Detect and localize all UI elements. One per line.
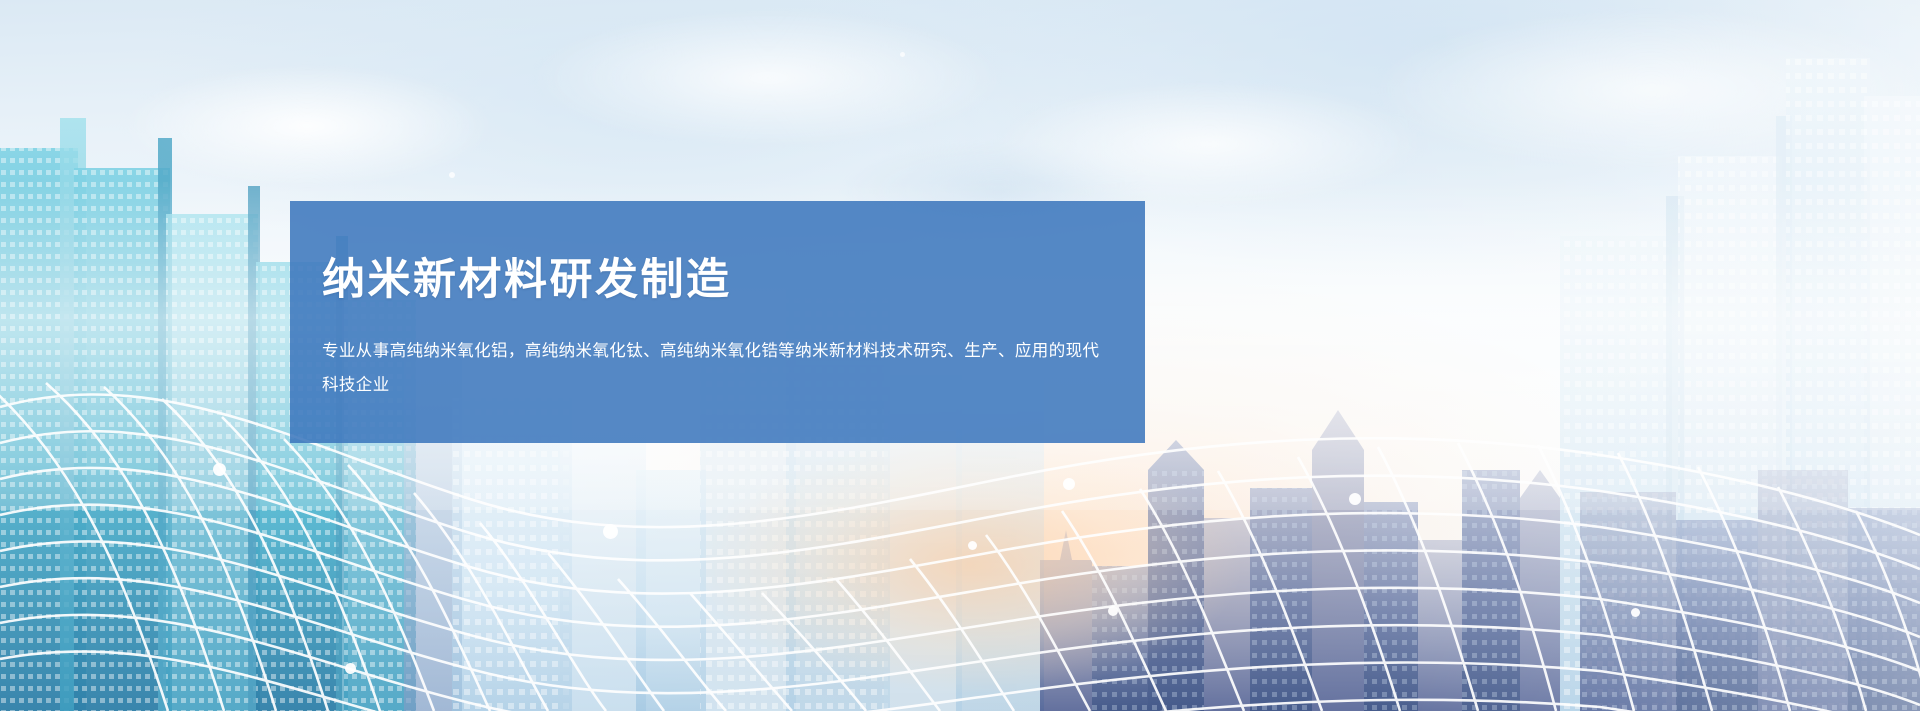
page-subtitle: 专业从事高纯纳米氧化铝，高纯纳米氧化钛、高纯纳米氧化锆等纳米新材料技术研究、生产…	[322, 334, 1112, 402]
particle-dot	[213, 463, 226, 476]
hero-banner: 纳米新材料研发制造 专业从事高纯纳米氧化铝，高纯纳米氧化钛、高纯纳米氧化锆等纳米…	[0, 0, 1920, 711]
particle-dot	[1108, 606, 1118, 616]
particle-dot	[345, 663, 356, 674]
hero-overlay-panel: 纳米新材料研发制造 专业从事高纯纳米氧化铝，高纯纳米氧化钛、高纯纳米氧化锆等纳米…	[290, 201, 1145, 443]
particle-dot	[1063, 478, 1075, 490]
particle-dot	[1349, 493, 1361, 505]
particle-dot	[968, 541, 977, 550]
particle-dot	[449, 172, 455, 178]
page-title: 纳米新材料研发制造	[322, 259, 1145, 302]
particle-dot	[1631, 608, 1640, 617]
particle-dot	[603, 524, 618, 539]
particle-dot	[900, 52, 905, 57]
